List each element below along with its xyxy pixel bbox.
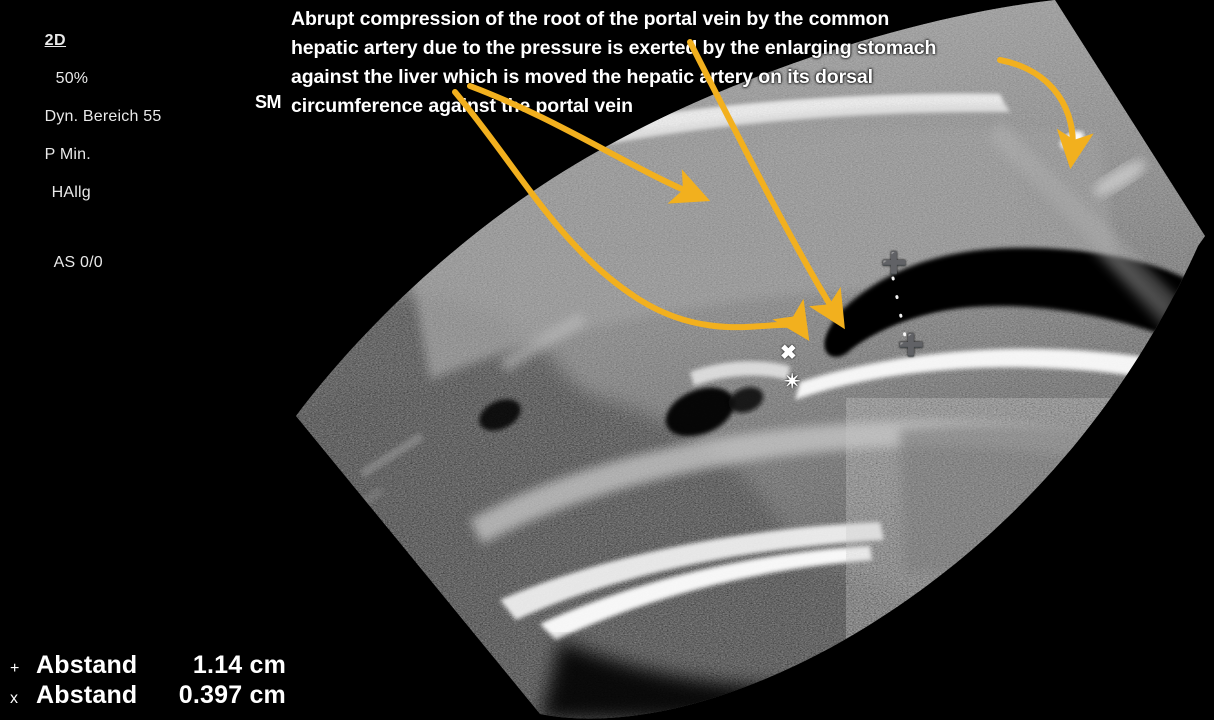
acoustic-output-value: AS 0/0 bbox=[45, 253, 103, 272]
power-value: P Min. bbox=[45, 146, 91, 163]
probe-orientation-marker: SM bbox=[255, 92, 281, 112]
measurement-label: Abstand bbox=[36, 680, 168, 710]
caliper-cross-lower: ✴ bbox=[784, 372, 801, 392]
param-spacer bbox=[26, 221, 161, 234]
measurement-readout: + Abstand 1.14 cm x Abstand 0.397 cm bbox=[10, 650, 286, 710]
ultrasound-screenshot: 2D 50% Dyn. Bereich 55 P Min. HAllg AS 0… bbox=[0, 0, 1214, 720]
caliper-plus-icon: + bbox=[10, 654, 36, 684]
caliper-plus-upper: ➕ bbox=[881, 253, 907, 274]
caption-line-4: circumference against the portal vein bbox=[291, 92, 1033, 121]
measurement-row: + Abstand 1.14 cm bbox=[10, 650, 286, 680]
gain-value: 50% bbox=[45, 69, 89, 88]
mode-label: 2D bbox=[45, 32, 66, 49]
caption-line-1: Abrupt compression of the root of the po… bbox=[291, 5, 1033, 34]
caliper-cross-upper: ✖ bbox=[780, 343, 797, 363]
caliper-cross-icon: x bbox=[10, 684, 36, 714]
machine-parameter-block: 2D 50% Dyn. Bereich 55 P Min. HAllg AS 0… bbox=[26, 12, 161, 291]
caption-line-3: against the liver which is moved the hep… bbox=[291, 63, 1033, 92]
caliper-plus-lower: ➕ bbox=[898, 335, 924, 356]
preset-value: HAllg bbox=[45, 183, 91, 202]
measurement-label: Abstand bbox=[36, 650, 168, 680]
dynamic-range-value: Dyn. Bereich 55 bbox=[45, 108, 162, 125]
measurement-value: 0.397 cm bbox=[168, 680, 286, 710]
measurement-row: x Abstand 0.397 cm bbox=[10, 680, 286, 710]
annotation-caption: Abrupt compression of the root of the po… bbox=[291, 5, 1033, 121]
caption-line-2: hepatic artery due to the pressure is ex… bbox=[291, 34, 1033, 63]
measurement-value: 1.14 cm bbox=[168, 650, 286, 680]
